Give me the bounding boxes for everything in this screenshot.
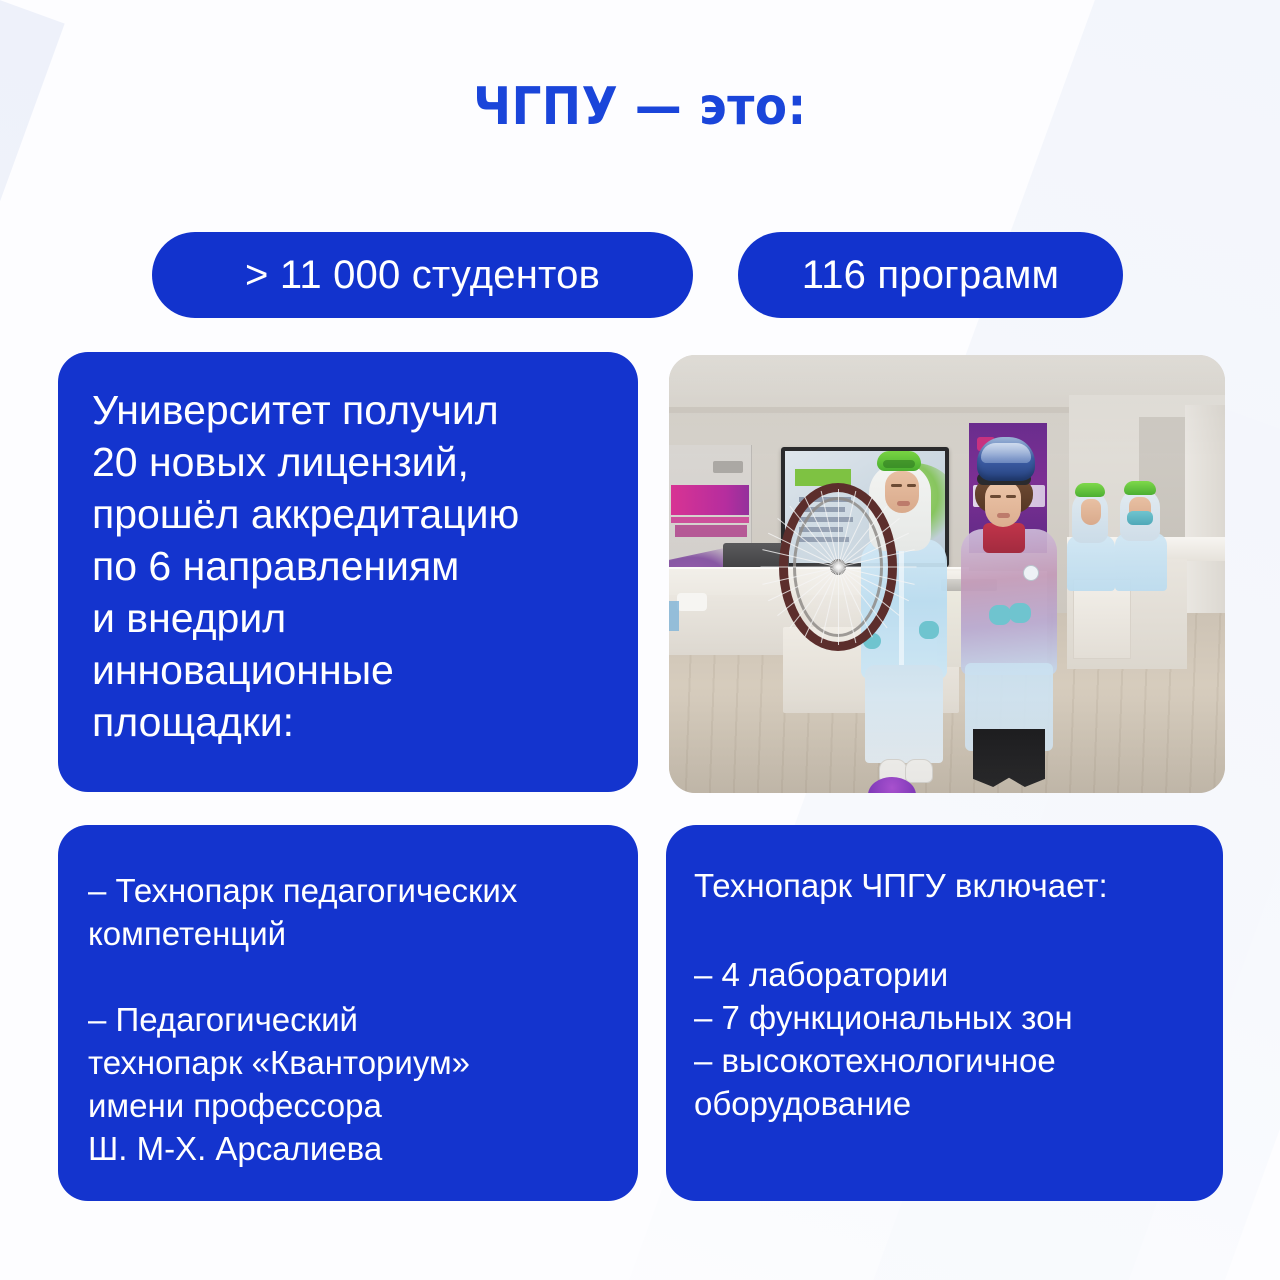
card-technopark-includes-body: – 4 лаборатории – 7 функциональных зон –…	[694, 953, 1195, 1125]
card-technopark-list: – Технопарк педагогических компетенций –…	[58, 825, 638, 1201]
stat-pill-students-label: > 11 000 студентов	[245, 253, 600, 297]
stat-pill-programs-label: 116 программ	[802, 253, 1060, 297]
page-title: ЧГПУ — это:	[0, 78, 1280, 136]
stat-pill-students: > 11 000 студентов	[152, 232, 693, 318]
photo-vignette	[669, 355, 1225, 793]
background-diagonal-band-left-thin	[0, 0, 9, 1280]
card-technopark-includes: Технопарк ЧПГУ включает: – 4 лаборатории…	[666, 825, 1223, 1201]
background-diagonal-band-left	[0, 0, 65, 1280]
infographic-poster: ЧГПУ — это: > 11 000 студентов 116 прогр…	[0, 0, 1280, 1280]
photo-lab-students	[669, 355, 1225, 793]
stat-pill-programs: 116 программ	[738, 232, 1123, 318]
card-technopark-list-body: – Технопарк педагогических компетенций –…	[88, 869, 608, 1170]
card-licenses: Университет получил 20 новых лицензий, п…	[58, 352, 638, 792]
card-licenses-body: Университет получил 20 новых лицензий, п…	[92, 384, 604, 748]
card-technopark-includes-heading: Технопарк ЧПГУ включает:	[694, 865, 1195, 907]
